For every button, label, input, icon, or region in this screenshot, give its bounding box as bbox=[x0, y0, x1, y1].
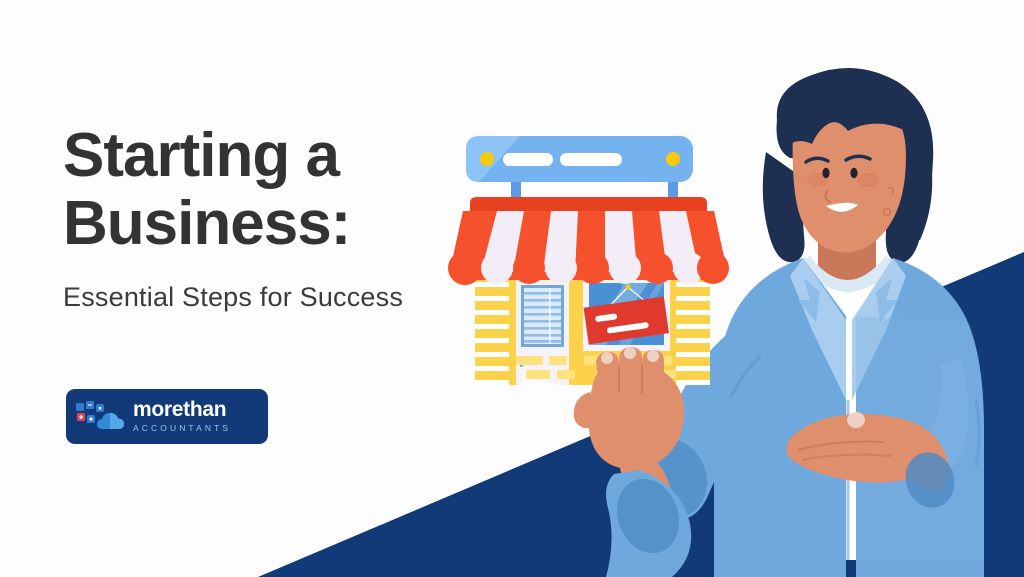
banner-canvas: Starting a Business: Essential Steps for… bbox=[0, 0, 1024, 577]
fingers bbox=[596, 347, 664, 397]
holding-hand-icon bbox=[0, 0, 1024, 577]
